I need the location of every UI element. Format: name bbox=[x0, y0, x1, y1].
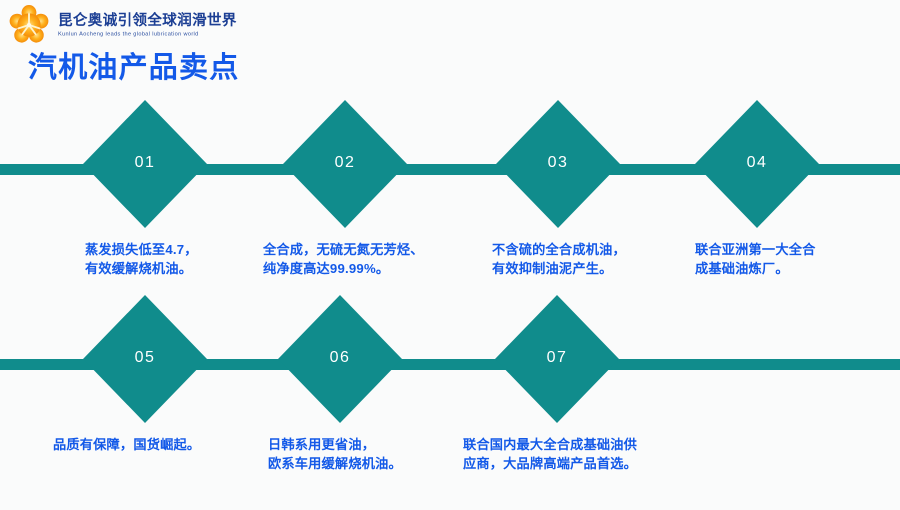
diamond-shape: 01 bbox=[83, 100, 207, 228]
diamond-shape: 07 bbox=[495, 295, 619, 423]
selling-point-caption: 不含硫的全合成机油， 有效抑制油泥产生。 bbox=[492, 240, 692, 278]
diamond-shape: 02 bbox=[283, 100, 407, 228]
brand-slogan-en: Kunlun Aocheng leads the global lubricat… bbox=[58, 30, 237, 39]
diamond-shape: 05 bbox=[83, 295, 207, 423]
diamond-number: 02 bbox=[335, 154, 356, 172]
diamond-number: 04 bbox=[747, 154, 768, 172]
diamond-shape: 03 bbox=[496, 100, 620, 228]
page-title: 汽机油产品卖点 bbox=[28, 44, 239, 86]
diamond-shape: 06 bbox=[278, 295, 402, 423]
brand-slogan-cn: 昆仑奥诚引领全球润滑世界 bbox=[58, 13, 237, 30]
brand-text-block: 昆仑奥诚引领全球润滑世界 Kunlun Aocheng leads the gl… bbox=[58, 11, 237, 38]
selling-points-row-1: 01 蒸发损失低至4.7， 有效缓解烧机油。 02 全合成，无硫无氮无芳烃、 纯… bbox=[0, 100, 900, 290]
selling-point-caption: 联合国内最大全合成基础油供 应商，大品牌高端产品首选。 bbox=[463, 435, 723, 473]
diamond-number: 05 bbox=[135, 349, 156, 367]
selling-point-caption: 日韩系用更省油， 欧系车用缓解烧机油。 bbox=[268, 435, 488, 473]
page-header: 昆仑奥诚引领全球润滑世界 Kunlun Aocheng leads the gl… bbox=[0, 0, 900, 92]
kunlun-flower-logo-icon bbox=[8, 4, 50, 46]
selling-point-caption: 全合成，无硫无氮无芳烃、 纯净度高达99.99%。 bbox=[263, 240, 478, 278]
diamond-number: 07 bbox=[547, 349, 568, 367]
diamond-shape: 04 bbox=[695, 100, 819, 228]
diamond-number: 06 bbox=[330, 349, 351, 367]
diamond-number: 01 bbox=[135, 154, 156, 172]
selling-point-caption: 蒸发损失低至4.7， 有效缓解烧机油。 bbox=[85, 240, 275, 278]
selling-point-caption: 品质有保障，国货崛起。 bbox=[53, 435, 273, 454]
selling-point-caption: 联合亚洲第一大全合 成基础油炼厂。 bbox=[695, 240, 865, 278]
diamond-number: 03 bbox=[548, 154, 569, 172]
selling-points-row-2: 05 品质有保障，国货崛起。 06 日韩系用更省油， 欧系车用缓解烧机油。 07… bbox=[0, 295, 900, 490]
brand-lockup: 昆仑奥诚引领全球润滑世界 Kunlun Aocheng leads the gl… bbox=[8, 4, 237, 46]
